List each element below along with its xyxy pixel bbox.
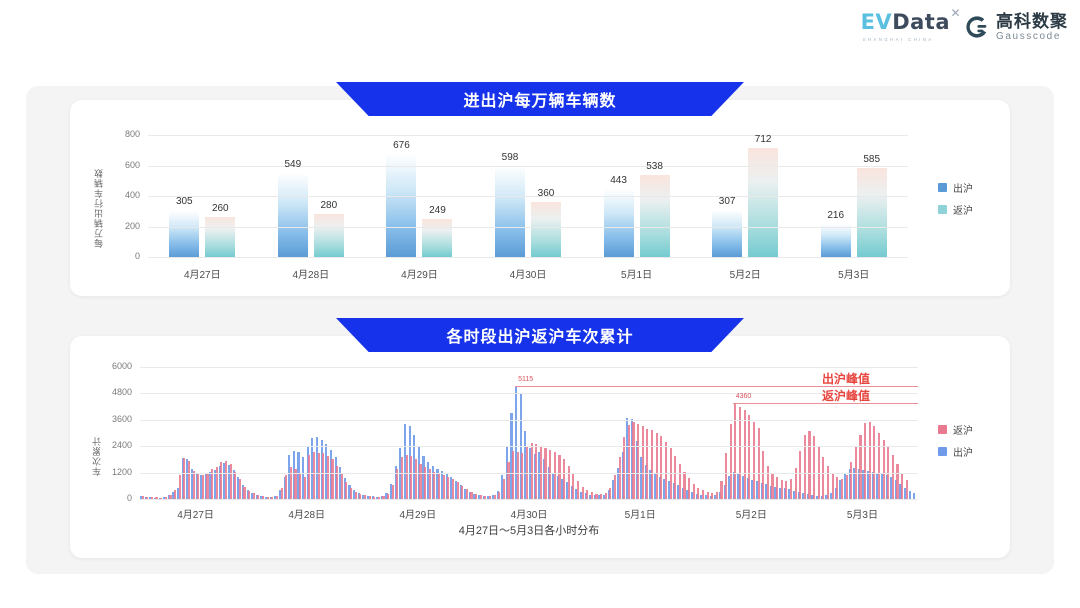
chart1-bar-out[interactable] [712,210,742,257]
chart2-bar-back[interactable] [822,457,824,499]
chart2-bar-back[interactable] [642,426,644,499]
chart1-bar-value-label: 585 [852,154,892,165]
chart2-bar-back[interactable] [243,487,245,499]
chart1-bar-out[interactable] [604,189,634,257]
chart2-bar-back[interactable] [396,469,398,499]
chart2-bar-back[interactable] [299,474,301,499]
chart2-bar-back[interactable] [433,472,435,500]
chart2-bar-back[interactable] [281,488,283,499]
chart-title-banner-1: 进出沪每万辆车辆数 [336,82,744,116]
chart2-bar-back[interactable] [785,481,787,499]
chart2-gridline [140,367,918,368]
chart2-bar-back[interactable] [808,431,810,499]
chart2-bar-back[interactable] [683,472,685,500]
chart2-bar-back[interactable] [670,448,672,499]
chart1-bar-value-label: 260 [200,203,240,214]
chart2-gridline [140,446,918,447]
chart2-bar-back[interactable] [832,473,834,499]
chart2-y-tick-label: 0 [98,493,132,503]
chart1-bar-back[interactable] [857,168,887,257]
chart2-bar-back[interactable] [901,473,903,499]
chart2-bar-back[interactable] [632,422,634,499]
chart2-bar-back[interactable] [873,426,875,499]
chart2-bar-back[interactable] [836,477,838,499]
chart2-x-tick-label: 5月2日 [706,506,796,521]
chart2-bar-back[interactable] [591,492,593,499]
chart1-bar-value-label: 443 [599,175,639,186]
chart2-peak-value: 4360 [736,393,752,400]
evdata-data-text: Data [892,10,950,34]
chart2-bar-back[interactable] [331,459,333,499]
chart1-gridline [148,257,908,258]
chart2-bar-back[interactable] [637,424,639,499]
chart2-bar-back[interactable] [350,488,352,499]
chart1-bar-back[interactable] [314,214,344,257]
chart2-bar-back[interactable] [697,488,699,499]
legend-swatch [938,183,947,192]
chart2-bar-back[interactable] [790,479,792,499]
chart2-bar-back[interactable] [341,474,343,499]
chart2-bar-back[interactable] [230,464,232,499]
chart2-bar-back[interactable] [646,429,648,499]
chart2-bar-back[interactable] [619,457,621,499]
chart2-bar-back[interactable] [896,464,898,499]
chart2-bar-back[interactable] [563,459,565,499]
chart1-legend-item[interactable]: 出沪 [938,180,973,195]
chart2-bar-back[interactable] [776,477,778,499]
chart2-bar-back[interactable] [730,424,732,499]
legend-label: 返沪 [953,202,973,217]
chart2-bar-back[interactable] [406,455,408,499]
chart2-bar-back[interactable] [234,472,236,500]
chart2-bar-back[interactable] [554,452,556,499]
chart1-bar-value-label: 598 [490,152,530,163]
chart2-bar-back[interactable] [864,423,866,499]
chart1-x-tick-label: 5月1日 [592,266,682,281]
chart2-bar-back[interactable] [758,428,760,500]
chart2-bar-back[interactable] [308,455,310,499]
chart2-gridline [140,499,918,500]
chart2-bar-back[interactable] [336,466,338,499]
chart2-bar-back[interactable] [799,451,801,499]
chart2-bar-back[interactable] [781,480,783,499]
chart1-y-axis-label: 每万辆出行车辆数 [92,148,105,248]
logo-bar: EVData✕ SHANGHAI CHINA 高科数聚 Gausscode [861,12,1068,42]
chart2-y-tick-label: 2400 [98,440,132,450]
chart2-bar-out[interactable] [909,491,911,499]
legend-swatch [938,447,947,456]
chart2-bar-back[interactable] [665,442,667,499]
chart2-bar-back[interactable] [614,475,616,499]
chart2-bar-back[interactable] [429,469,431,499]
chart2-x-tick-label: 4月29日 [373,506,463,521]
chart2-y-tick-label: 6000 [98,361,132,371]
chart1-legend[interactable]: 出沪返沪 [938,180,973,224]
legend-label: 出沪 [953,180,973,195]
chart2-bar-back[interactable] [869,422,871,499]
chart2-bar-back[interactable] [716,492,718,499]
chart1-bar-value-label: 305 [164,196,204,207]
chart2-bar-back[interactable] [507,462,509,499]
chart1-x-tick-label: 4月30日 [483,266,573,281]
chart2-bar-back[interactable] [470,492,472,499]
chart2-bar-back[interactable] [461,486,463,499]
chart2-bar-back[interactable] [322,453,324,499]
chart1-bar-back[interactable] [640,175,670,257]
chart1-bar-back[interactable] [531,202,561,257]
chart2-bar-back[interactable] [577,481,579,499]
chart2-bar-back[interactable] [179,475,181,499]
chart2-legend-item[interactable]: 返沪 [938,422,973,437]
chart2-bar-back[interactable] [345,482,347,499]
chart2-legend-item[interactable]: 出沪 [938,444,973,459]
chart2-bar-back[interactable] [827,466,829,499]
chart2-legend[interactable]: 返沪出沪 [938,422,973,466]
chart2-bar-back[interactable] [628,425,630,499]
chart1-bar-value-label: 249 [417,205,457,216]
chart1-bar-back[interactable] [422,219,452,257]
chart2-gridline [140,420,918,421]
chart1-bar-value-label: 549 [273,159,313,170]
chart2-bar-back[interactable] [498,492,500,499]
legend-label: 出沪 [953,444,973,459]
chart2-bar-back[interactable] [313,452,315,499]
chart2-bar-back[interactable] [762,451,764,499]
chart2-x-tick-label: 4月28日 [262,506,352,521]
chart2-bar-back[interactable] [674,456,676,499]
screenshot-root: EVData✕ SHANGHAI CHINA 高科数聚 Gausscode 进出… [0,0,1080,608]
chart2-bar-back[interactable] [197,474,199,499]
chart-title-banner-2: 各时段出沪返沪车次累计 [336,318,744,352]
chart2-bar-back[interactable] [558,455,560,499]
chart1-bar-out[interactable] [169,211,199,258]
chart2-bar-back[interactable] [248,491,250,499]
chart1-x-tick-label: 4月28日 [266,266,356,281]
chart2-bar-back[interactable] [447,477,449,499]
chart2-bar-back[interactable] [883,440,885,499]
chart2-bar-back[interactable] [183,458,185,499]
chart1-bar-value-label: 712 [743,134,783,145]
chart1-bar-value-label: 538 [635,161,675,172]
evdata-subtitle: SHANGHAI CHINA [863,37,934,42]
chart2-bar-back[interactable] [744,410,746,499]
chart2-bar-back[interactable] [544,448,546,499]
chart2-bar-back[interactable] [725,453,727,499]
chart1-bar-out[interactable] [821,224,851,257]
chart2-bar-back[interactable] [443,475,445,499]
chart2-bar-back[interactable] [457,482,459,499]
gausscode-cn-name: 高科数聚 [996,13,1068,30]
chart2-x-tick-label: 4月27日 [151,506,241,521]
chart2-gridline [140,473,918,474]
chart2-bar-back[interactable] [438,473,440,499]
evdata-superscript-icon: ✕ [950,7,961,19]
chart2-bar-back[interactable] [193,471,195,499]
chart2-bar-back[interactable] [239,479,241,499]
chart2-bar-back[interactable] [531,443,533,499]
chart2-y-tick-label: 3600 [98,414,132,424]
chart2-bar-back[interactable] [734,403,736,499]
legend-swatch [938,205,947,214]
chart2-bar-back[interactable] [859,435,861,499]
chart2-bar-back[interactable] [355,492,357,499]
evdata-ev-text: EV [861,10,893,34]
chart2-bar-back[interactable] [285,475,287,499]
chart1-bar-out[interactable] [278,173,308,257]
chart2-bar-back[interactable] [679,464,681,499]
chart2-bar-back[interactable] [220,462,222,499]
chart1-legend-item[interactable]: 返沪 [938,202,973,217]
chart2-bar-back[interactable] [841,479,843,499]
chart2-gridline [140,393,918,394]
chart2-bar-back[interactable] [521,453,523,499]
chart2-bar-back[interactable] [452,479,454,499]
chart1-x-tick-label: 5月2日 [700,266,790,281]
chart2-y-tick-label: 1200 [98,467,132,477]
chart2-bar-back[interactable] [415,459,417,499]
chart2-bar-back[interactable] [318,453,320,499]
chart1-bar-value-label: 307 [707,196,747,207]
chart2-bar-back[interactable] [609,488,611,499]
chart1-y-tick-label: 800 [106,129,140,139]
chart2-bar-back[interactable] [586,490,588,499]
chart2-x-tick-label: 5月3日 [817,506,907,521]
chart1-gridline [148,227,908,228]
chart1-bar-value-label: 280 [309,200,349,211]
chart2-bar-back[interactable] [906,480,908,499]
chart2-y-tick-label: 4800 [98,387,132,397]
chart2-bar-back[interactable] [327,456,329,499]
chart2-bar-back[interactable] [748,415,750,499]
chart2-bar-back[interactable] [211,469,213,499]
legend-swatch [938,425,947,434]
chart2-bar-back[interactable] [174,490,176,499]
chart2-bar-back[interactable] [693,484,695,499]
chart2-bar-back[interactable] [771,473,773,499]
chart1-bar-out[interactable] [386,154,416,257]
chart2-bar-back[interactable] [512,451,514,499]
chart2-bar-back[interactable] [225,461,227,499]
chart2-bar-back[interactable] [535,444,537,499]
chart1-bar-value-label: 360 [526,188,566,199]
chart2-bar-back[interactable] [656,433,658,499]
chart2-bar-back[interactable] [720,481,722,499]
chart2-bar-back[interactable] [850,462,852,499]
chart2-bar-back[interactable] [188,461,190,500]
chart2-bar-back[interactable] [549,450,551,500]
chart2-bar-back[interactable] [753,422,755,499]
evdata-logo: EVData✕ SHANGHAI CHINA [861,12,950,42]
chart1-bar-out[interactable] [495,166,525,257]
chart2-bar-back[interactable] [466,489,468,499]
chart2-bar-back[interactable] [517,452,519,499]
chart1-x-tick-label: 4月29日 [374,266,464,281]
chart2-peak-value: 5115 [518,376,533,383]
chart2-bar-back[interactable] [401,457,403,499]
legend-label: 返沪 [953,422,973,437]
chart2-bar-back[interactable] [206,473,208,499]
chart2-bar-back[interactable] [202,475,204,499]
chart1-bar-value-label: 676 [381,140,421,151]
chart2-bar-back[interactable] [572,474,574,499]
chart1-bar-value-label: 216 [816,210,856,221]
gausscode-logo: 高科数聚 Gausscode [964,13,1068,42]
chart2-x-tick-label: 4月30日 [484,506,574,521]
chart1-gridline [148,166,908,167]
chart2-bar-back[interactable] [702,490,704,499]
chart1-y-tick-label: 400 [106,190,140,200]
chart2-bar-back[interactable] [878,433,880,499]
chart2-peak-label: 出沪峰值 [822,370,870,387]
chart2-x-axis-caption: 4月27日～5月3日各小时分布 [140,522,918,538]
chart2-bar-back[interactable] [304,477,306,499]
chart2-bar-back[interactable] [419,464,421,499]
chart2-bar-back[interactable] [410,456,412,499]
chart1-y-tick-label: 600 [106,160,140,170]
chart2-bar-back[interactable] [582,487,584,499]
chart2-peak-label: 返沪峰值 [822,387,870,404]
chart1-x-tick-label: 5月3日 [809,266,899,281]
chart2-bar-back[interactable] [392,485,394,499]
chart2-bar-back[interactable] [804,435,806,499]
evdata-wordmark: EVData✕ [861,12,950,33]
chart2-x-tick-label: 5月1日 [595,506,685,521]
chart2-bar-back[interactable] [707,492,709,499]
chart1-y-tick-label: 0 [106,251,140,261]
chart2-bar-back[interactable] [503,479,505,499]
gausscode-en-name: Gausscode [996,32,1068,42]
chart2-bar-back[interactable] [767,466,769,499]
gausscode-g-icon [964,14,990,40]
chart2-bar-back[interactable] [892,455,894,499]
chart2-bar-back[interactable] [568,466,570,499]
chart1-gridline [148,135,908,136]
chart2-bar-back[interactable] [846,475,848,499]
chart1-x-tick-label: 4月27日 [157,266,247,281]
chart1-bar-back[interactable] [205,217,235,257]
chart1-y-tick-label: 200 [106,221,140,231]
chart2-bar-back[interactable] [651,430,653,499]
chart2-bar-back[interactable] [688,478,690,499]
